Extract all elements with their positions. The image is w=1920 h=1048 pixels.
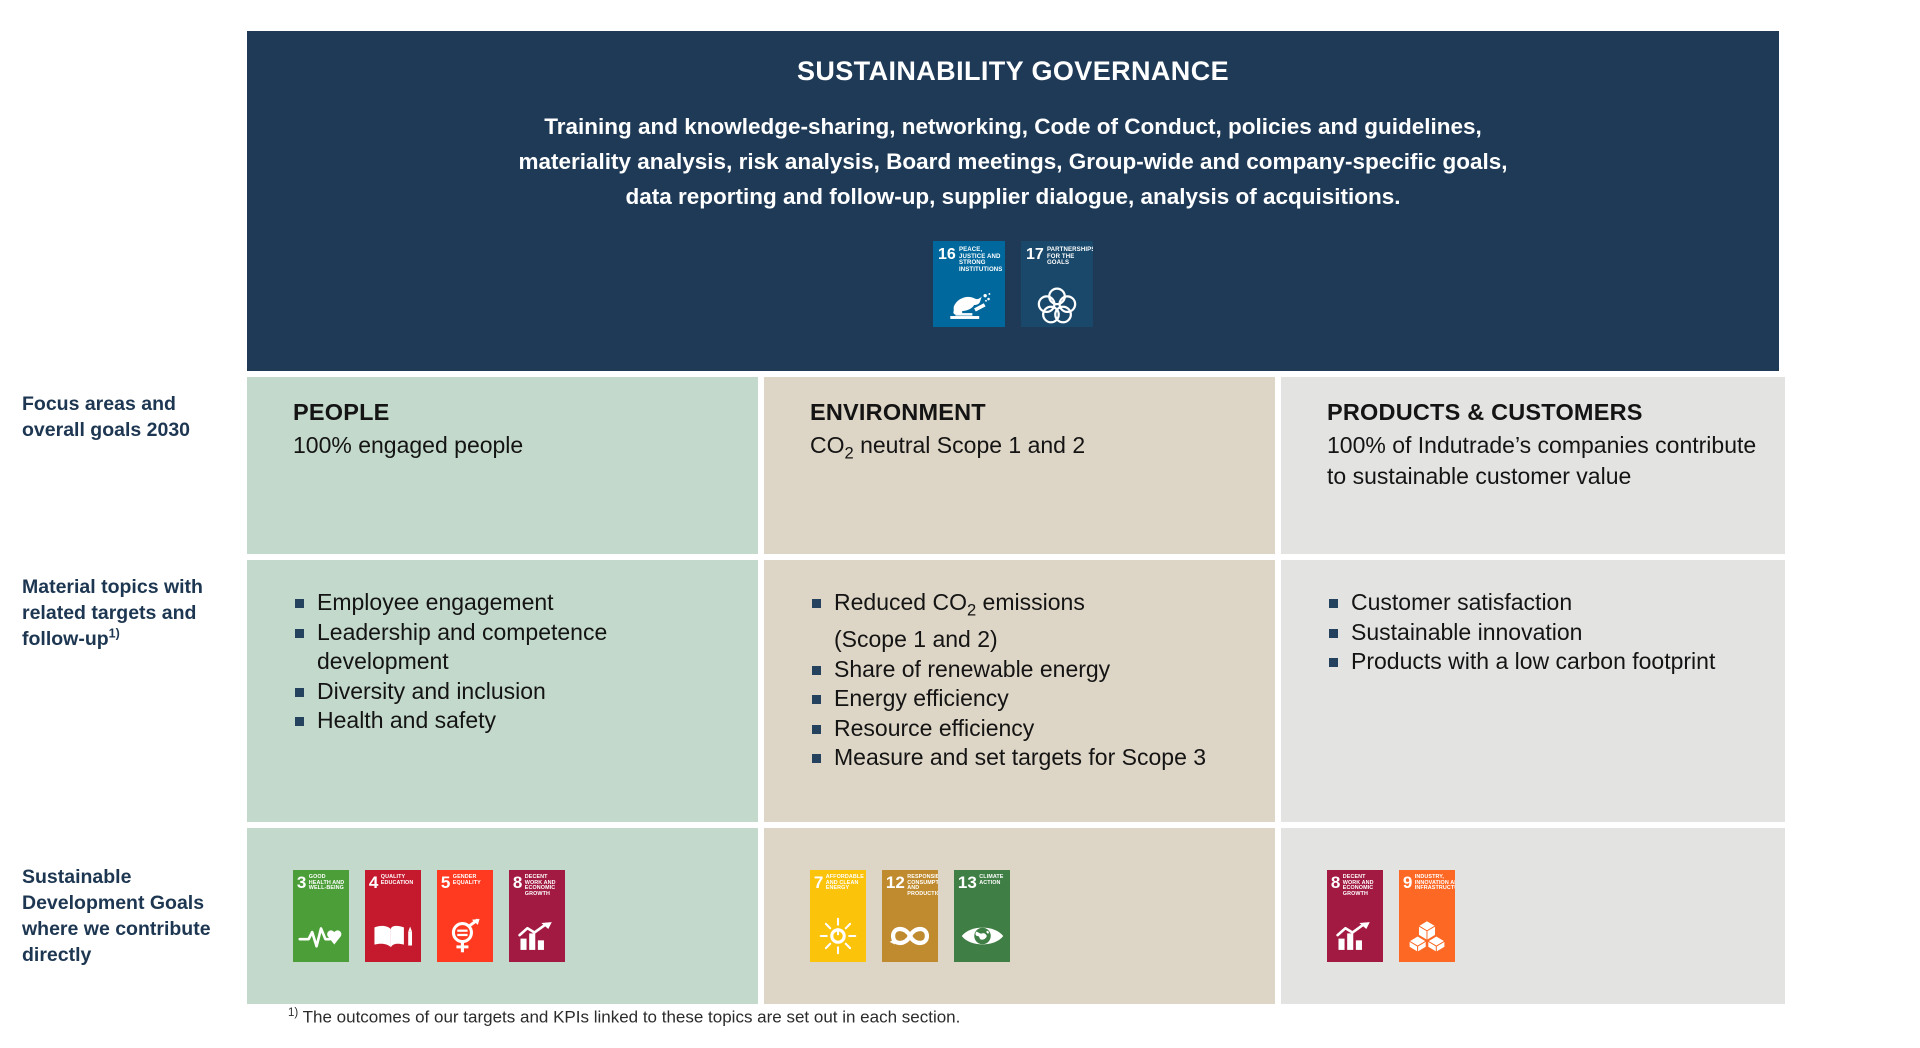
sdg-tile-7: 7AFFORDABLE AND CLEAN ENERGY xyxy=(810,870,866,962)
list-item: Diversity and inclusion xyxy=(293,677,732,707)
governance-sdg-list: 16 PEACE, JUSTICE AND STRONG INSTITUTION… xyxy=(933,241,1093,327)
heartbeat-icon xyxy=(293,915,349,957)
sdg-tile-12: 12RESPONSIBLE CONSUMPTION AND PRODUCTION xyxy=(882,870,938,962)
column-goal-people: 100% engaged people xyxy=(293,430,732,461)
topics-list-environment: Reduced CO2 emissions(Scope 1 and 2) Sha… xyxy=(810,588,1249,773)
sdg-3-number: 3 xyxy=(297,875,306,891)
cell-topics-products: Customer satisfaction Sustainable innova… xyxy=(1281,560,1785,822)
cell-focus-products: PRODUCTS & CUSTOMERS 100% of Indutrade’s… xyxy=(1281,377,1785,554)
sun-power-icon xyxy=(810,915,866,957)
list-item: Products with a low carbon footprint xyxy=(1327,647,1759,677)
cell-sdgs-environment: 7AFFORDABLE AND CLEAN ENERGY xyxy=(764,828,1275,1004)
sdg-17-header: 17 PARTNERSHIPS FOR THE GOALS xyxy=(1021,241,1093,267)
topics-list-products: Customer satisfaction Sustainable innova… xyxy=(1327,588,1759,677)
matrix-row-focus-areas: Focus areas and overall goals 2030 PEOPL… xyxy=(0,377,1920,554)
column-title-products: PRODUCTS & CUSTOMERS xyxy=(1327,399,1759,426)
sdg-list-products: 8DECENT WORK AND ECONOMIC GROWTH xyxy=(1327,870,1455,962)
list-item: Health and safety xyxy=(293,706,732,736)
globe-eye-icon xyxy=(954,915,1010,957)
cell-topics-people: Employee engagement Leadership and compe… xyxy=(247,560,758,822)
sustainability-framework-diagram: SUSTAINABILITY GOVERNANCE Training and k… xyxy=(0,0,1920,1048)
sdg-tile-16: 16 PEACE, JUSTICE AND STRONG INSTITUTION… xyxy=(933,241,1005,327)
infinity-loop-icon xyxy=(882,915,938,957)
list-item: Energy efficiency xyxy=(810,684,1249,714)
governance-description-line-3: data reporting and follow-up, supplier d… xyxy=(518,179,1507,214)
sdg-17-name: PARTNERSHIPS FOR THE GOALS xyxy=(1047,247,1093,266)
footnote: 1) The outcomes of our targets and KPIs … xyxy=(288,1007,960,1028)
cubes-icon xyxy=(1399,915,1455,957)
sdg-8-products-name: DECENT WORK AND ECONOMIC GROWTH xyxy=(1343,875,1380,898)
topic-co2-line2: (Scope 1 and 2) xyxy=(834,626,998,652)
sdg-12-name: RESPONSIBLE CONSUMPTION AND PRODUCTION xyxy=(907,875,938,898)
row-label-material-topics: Material topics with related targets and… xyxy=(0,560,247,822)
footnote-number: 1) xyxy=(288,1007,298,1019)
sdg-tile-4: 4QUALITY EDUCATION xyxy=(365,870,421,962)
list-item: Share of renewable energy xyxy=(810,655,1249,685)
governance-description-line-1: Training and knowledge-sharing, networki… xyxy=(518,109,1507,144)
cell-focus-environment: ENVIRONMENT CO2 neutral Scope 1 and 2 xyxy=(764,377,1275,554)
sdg-7-number: 7 xyxy=(814,875,823,891)
list-item: Employee engagement xyxy=(293,588,732,618)
sdg-tile-8-people: 8DECENT WORK AND ECONOMIC GROWTH xyxy=(509,870,565,962)
sdg-7-name: AFFORDABLE AND CLEAN ENERGY xyxy=(826,875,864,892)
row-label-sdg-contribution: Sustainable Development Goals where we c… xyxy=(0,828,247,1004)
sdg-12-number: 12 xyxy=(886,875,905,891)
footnote-marker: 1) xyxy=(109,627,120,641)
sdg-17-number: 17 xyxy=(1026,247,1044,262)
sdg-tile-9: 9INDUSTRY, INNOVATION AND INFRASTRUCTURE xyxy=(1399,870,1455,962)
column-title-people: PEOPLE xyxy=(293,399,732,426)
topic-co2-subscript: 2 xyxy=(967,601,976,620)
topics-list-people: Employee engagement Leadership and compe… xyxy=(293,588,732,736)
sdg-13-name: CLIMATE ACTION xyxy=(979,875,1006,886)
sdg-8-number: 8 xyxy=(513,875,522,891)
governance-banner: SUSTAINABILITY GOVERNANCE Training and k… xyxy=(247,31,1779,371)
topic-co2-prefix: Reduced CO xyxy=(834,589,967,615)
sdg-list-environment: 7AFFORDABLE AND CLEAN ENERGY xyxy=(810,870,1010,962)
sdg-3-name: GOOD HEALTH AND WELL-BEING xyxy=(309,875,346,892)
sdg-tile-3: 3GOOD HEALTH AND WELL-BEING xyxy=(293,870,349,962)
dove-gavel-icon xyxy=(933,287,1005,323)
row-label-focus-areas: Focus areas and overall goals 2030 xyxy=(0,377,247,554)
sdg-4-number: 4 xyxy=(369,875,378,891)
growth-chart-icon xyxy=(509,915,565,957)
sdg-9-number: 9 xyxy=(1403,875,1412,891)
sdg-5-name: GENDER EQUALITY xyxy=(453,875,490,886)
sdg-8-products-number: 8 xyxy=(1331,875,1340,891)
sdg-13-number: 13 xyxy=(958,875,977,891)
list-item: Resource efficiency xyxy=(810,714,1249,744)
co2-subscript: 2 xyxy=(845,444,854,463)
sdg-tile-13: 13CLIMATE ACTION xyxy=(954,870,1010,962)
list-item: Measure and set targets for Scope 3 xyxy=(810,743,1249,773)
footnote-text: The outcomes of our targets and KPIs lin… xyxy=(303,1008,961,1027)
growth-chart-icon xyxy=(1327,915,1383,957)
list-item: Sustainable innovation xyxy=(1327,618,1759,648)
cell-topics-environment: Reduced CO2 emissions(Scope 1 and 2) Sha… xyxy=(764,560,1275,822)
framework-matrix: Focus areas and overall goals 2030 PEOPL… xyxy=(0,377,1920,1010)
sdg-9-name: INDUSTRY, INNOVATION AND INFRASTRUCTURE xyxy=(1415,875,1455,892)
topic-co2-suffix: emissions xyxy=(976,589,1085,615)
co2-suffix: neutral Scope 1 and 2 xyxy=(854,432,1085,458)
co2-prefix: CO xyxy=(810,432,845,458)
sdg-tile-5: 5GENDER EQUALITY xyxy=(437,870,493,962)
gender-equality-icon xyxy=(437,915,493,957)
list-item: Customer satisfaction xyxy=(1327,588,1759,618)
sdg-list-people: 3GOOD HEALTH AND WELL-BEING 4QUALITY EDU… xyxy=(293,870,565,962)
list-item: Reduced CO2 emissions(Scope 1 and 2) xyxy=(810,588,1249,655)
sdg-16-name: PEACE, JUSTICE AND STRONG INSTITUTIONS xyxy=(959,247,1003,273)
sdg-5-number: 5 xyxy=(441,875,450,891)
cell-sdgs-products: 8DECENT WORK AND ECONOMIC GROWTH xyxy=(1281,828,1785,1004)
sdg-tile-17: 17 PARTNERSHIPS FOR THE GOALS xyxy=(1021,241,1093,327)
governance-description-line-2: materiality analysis, risk analysis, Boa… xyxy=(518,144,1507,179)
sdg-8-name: DECENT WORK AND ECONOMIC GROWTH xyxy=(525,875,562,898)
cell-sdgs-people: 3GOOD HEALTH AND WELL-BEING 4QUALITY EDU… xyxy=(247,828,758,1004)
column-goal-products: 100% of Indutrade’s companies contribute… xyxy=(1327,430,1759,492)
sdg-4-name: QUALITY EDUCATION xyxy=(381,875,418,886)
open-book-icon xyxy=(365,915,421,957)
list-item: Leadership and competence development xyxy=(293,618,732,677)
governance-description: Training and knowledge-sharing, networki… xyxy=(518,109,1507,214)
interlocking-circles-icon xyxy=(1021,287,1093,323)
sdg-16-number: 16 xyxy=(938,247,956,262)
matrix-row-material-topics: Material topics with related targets and… xyxy=(0,560,1920,822)
column-title-environment: ENVIRONMENT xyxy=(810,399,1249,426)
governance-title: SUSTAINABILITY GOVERNANCE xyxy=(797,56,1229,87)
column-goal-environment: CO2 neutral Scope 1 and 2 xyxy=(810,430,1249,469)
cell-focus-people: PEOPLE 100% engaged people xyxy=(247,377,758,554)
sdg-tile-8-products: 8DECENT WORK AND ECONOMIC GROWTH xyxy=(1327,870,1383,962)
sdg-16-header: 16 PEACE, JUSTICE AND STRONG INSTITUTION… xyxy=(933,241,1005,273)
matrix-row-sdgs: Sustainable Development Goals where we c… xyxy=(0,828,1920,1004)
